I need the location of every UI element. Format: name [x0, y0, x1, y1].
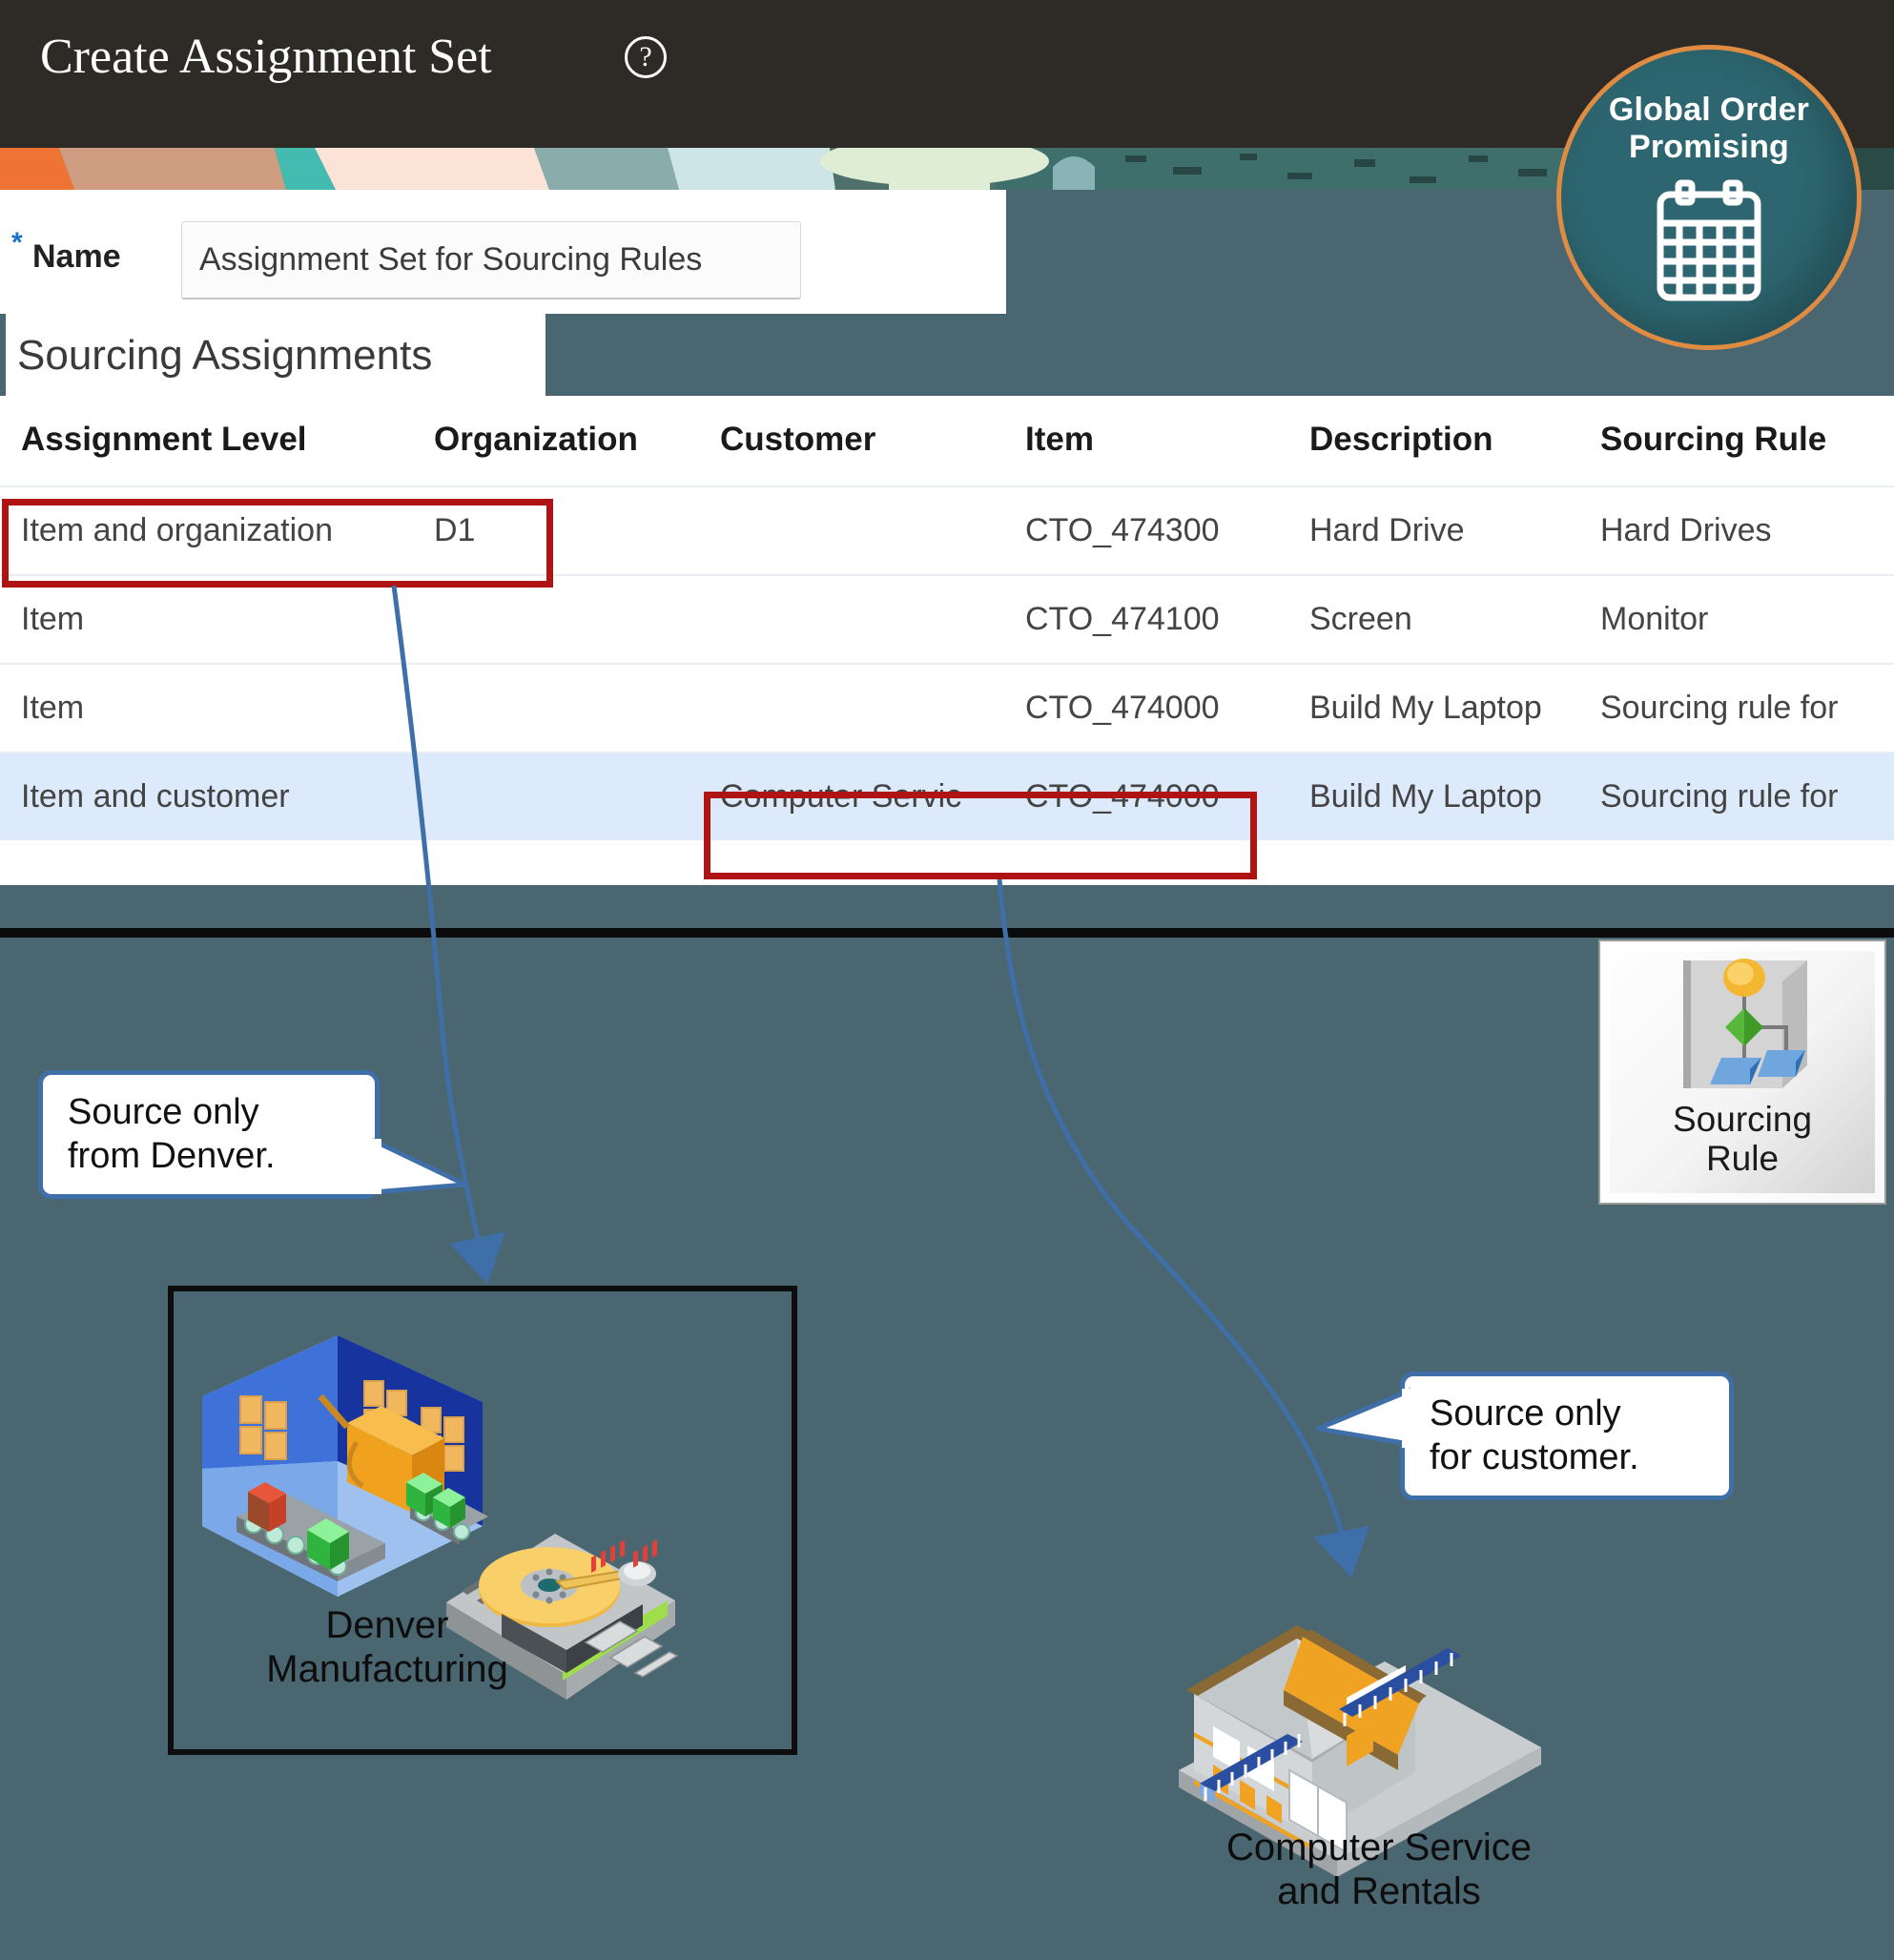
name-input[interactable]: Assignment Set for Sourcing Rules — [181, 221, 801, 299]
cell-sourcing-rule: Sourcing rule for — [1600, 753, 1894, 840]
cell-organization — [434, 575, 720, 664]
table-row[interactable]: Item CTO_474100 Screen Monitor — [0, 575, 1894, 664]
cell-item: CTO_474300 — [1025, 486, 1309, 575]
page-title: Create Assignment Set — [40, 29, 492, 85]
denver-label-line-2: Manufacturing — [168, 1648, 607, 1692]
tab-sourcing-assignments-label: Sourcing Assignments — [17, 332, 432, 380]
global-order-promising-badge: Global Order Promising — [1556, 45, 1862, 350]
cell-assignment-level: Item and customer — [0, 753, 434, 840]
cell-organization — [434, 664, 720, 753]
cell-description: Build My Laptop — [1309, 664, 1600, 753]
column-header-description[interactable]: Description — [1309, 396, 1600, 486]
help-icon[interactable]: ? — [625, 36, 667, 78]
sourcing-rule-label-line-1: Sourcing — [1600, 1100, 1884, 1139]
cell-description: Hard Drive — [1309, 486, 1600, 575]
table-bottom-gap — [0, 885, 1894, 928]
cell-customer — [720, 575, 1025, 664]
required-asterisk: * — [11, 227, 23, 259]
badge-line-1: Global Order — [1561, 92, 1857, 129]
cell-assignment-level: Item — [0, 575, 434, 664]
callout-tail-denver — [374, 1133, 479, 1219]
cell-organization — [434, 753, 720, 840]
cell-sourcing-rule: Sourcing rule for — [1600, 664, 1894, 753]
sourcing-rule-label: Sourcing Rule — [1600, 1100, 1884, 1179]
denver-label-line-1: Denver — [168, 1604, 607, 1648]
cell-sourcing-rule: Hard Drives — [1600, 486, 1894, 575]
column-header-item[interactable]: Item — [1025, 396, 1309, 486]
table-header-row: Assignment Level Organization Customer I… — [0, 396, 1894, 486]
callout-text: Source only for customer. — [1430, 1393, 1639, 1477]
column-header-customer[interactable]: Customer — [720, 396, 1025, 486]
highlight-box-customer-item — [704, 792, 1257, 879]
sourcing-rule-button[interactable]: Sourcing Rule — [1598, 939, 1886, 1205]
callout-source-for-customer: Source only for customer. — [1400, 1372, 1734, 1500]
callout-text: Source only from Denver. — [68, 1092, 276, 1176]
table-bottom-rule — [0, 928, 1894, 938]
badge-text: Global Order Promising — [1561, 50, 1857, 166]
highlight-box-assignment-level — [2, 499, 553, 588]
cell-customer — [720, 664, 1025, 753]
denver-manufacturing-label: Denver Manufacturing — [168, 1604, 607, 1691]
name-label: Name — [32, 238, 121, 276]
badge-line-2: Promising — [1561, 129, 1857, 166]
arrow-customer-to-store — [999, 879, 1347, 1555]
sourcing-rule-diagram-icon — [1662, 955, 1822, 1098]
page-root: Create Assignment Set ? — [0, 0, 1894, 1960]
cell-assignment-level: Item — [0, 664, 434, 753]
column-header-sourcing-rule[interactable]: Sourcing Rule — [1600, 396, 1894, 486]
column-header-organization[interactable]: Organization — [434, 396, 720, 486]
computer-service-rentals-label: Computer Service and Rentals — [1131, 1826, 1627, 1913]
cell-sourcing-rule: Monitor — [1600, 575, 1894, 664]
table-row[interactable]: Item CTO_474000 Build My Laptop Sourcing… — [0, 664, 1894, 753]
callout-tail-customer — [1318, 1385, 1423, 1471]
cell-item: CTO_474000 — [1025, 664, 1309, 753]
cell-description: Screen — [1309, 575, 1600, 664]
sourcing-rule-label-line-2: Rule — [1600, 1139, 1884, 1178]
calendar-icon — [1653, 179, 1765, 305]
store-label-line-2: and Rentals — [1131, 1870, 1627, 1914]
callout-source-from-denver: Source only from Denver. — [38, 1070, 380, 1199]
cell-customer — [720, 486, 1025, 575]
cell-item: CTO_474100 — [1025, 575, 1309, 664]
column-header-assignment-level[interactable]: Assignment Level — [0, 396, 434, 486]
cell-description: Build My Laptop — [1309, 753, 1600, 840]
store-label-line-1: Computer Service — [1131, 1826, 1627, 1870]
name-input-value: Assignment Set for Sourcing Rules — [182, 222, 800, 279]
